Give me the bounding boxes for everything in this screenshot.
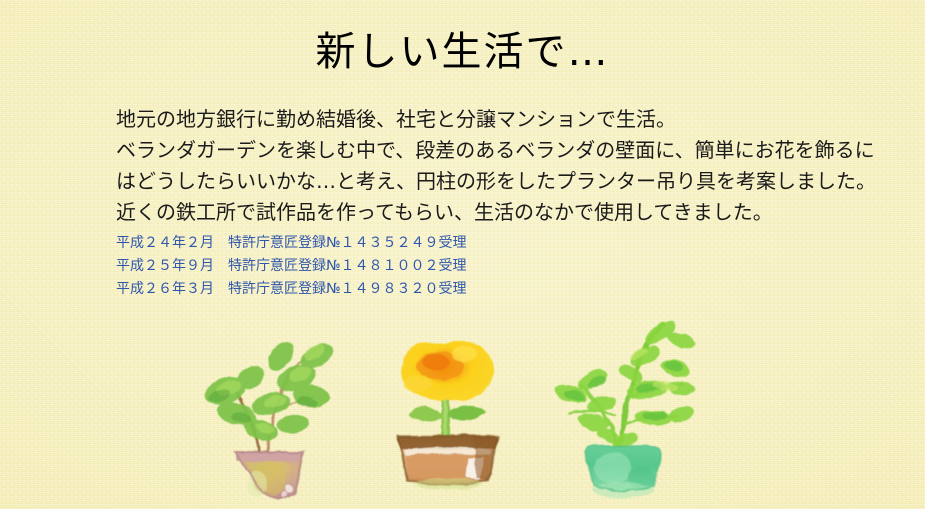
patent-registration-list: 平成２４年２月 特許庁意匠登録№１４３５２４９受理 平成２５年９月 特許庁意匠登… xyxy=(116,232,616,301)
page-content: 新しい生活で… 地元の地方銀行に勤め結婚後、社宅と分譲マンションで生活。 ベラン… xyxy=(0,0,925,509)
body-paragraph: 地元の地方銀行に勤め結婚後、社宅と分譲マンションで生活。 ベランダガーデンを楽し… xyxy=(116,104,916,228)
patent-note-1: 平成２４年２月 特許庁意匠登録№１４３５２４９受理 xyxy=(116,232,616,255)
page-root: 新しい生活で… 地元の地方銀行に勤め結婚後、社宅と分譲マンションで生活。 ベラン… xyxy=(0,0,925,509)
body-line-1: 地元の地方銀行に勤め結婚後、社宅と分譲マンションで生活。 xyxy=(116,104,916,135)
potted-yellow-flower-illustration xyxy=(360,318,550,503)
patent-note-2: 平成２５年９月 特許庁意匠登録№１４８１００２受理 xyxy=(116,255,616,278)
body-line-2: ベランダガーデンを楽しむ中で、段差のあるベランダの壁面に、簡単にお花を飾るに xyxy=(116,135,916,166)
illustration-row xyxy=(0,318,925,509)
body-line-4: 近くの鉄工所で試作品を作ってもらい、生活のなかで使用してきました。 xyxy=(116,197,916,228)
patent-note-3: 平成２６年３月 特許庁意匠登録№１４９８３２０受理 xyxy=(116,278,616,301)
potted-green-plant-illustration xyxy=(185,318,375,503)
page-title: 新しい生活で… xyxy=(0,26,925,78)
body-line-3: はどうしたらいいかな…と考え、円柱の形をしたプランター吊り具を考案しました。 xyxy=(116,166,916,197)
potted-leafy-plant-illustration xyxy=(535,318,725,503)
